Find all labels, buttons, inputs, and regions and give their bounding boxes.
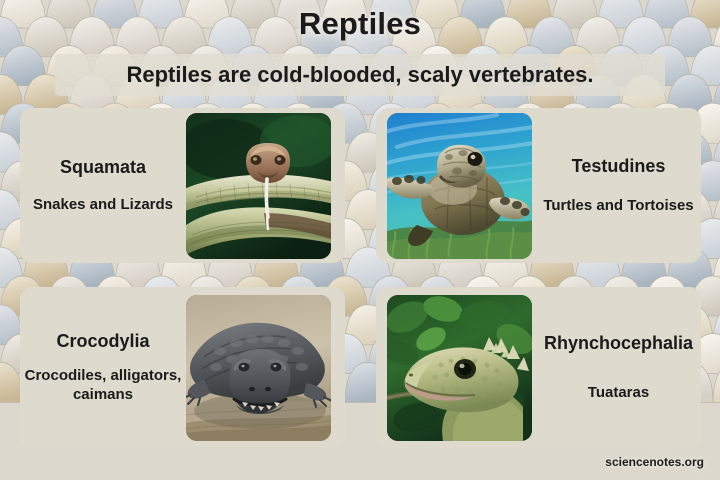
panel-testudines-text: Testudines Turtles and Tortoises (536, 156, 701, 216)
panel-testudines-order-name: Testudines (540, 156, 697, 177)
reptiles-infographic: Reptiles Reptiles are cold-blooded, scal… (0, 0, 720, 480)
panel-squamata-examples: Snakes and Lizards (24, 195, 182, 214)
panel-testudines[interactable]: Testudines Turtles and Tortoises (376, 108, 701, 263)
panel-squamata-order-name: Squamata (24, 157, 182, 178)
sea-turtle-photo (387, 113, 532, 259)
page-title: Reptiles (0, 6, 720, 42)
panel-crocodylia[interactable]: Crocodylia Crocodiles, alligators, caima… (20, 287, 345, 448)
site-attribution: sciencenotes.org (605, 455, 704, 469)
panel-rhynchocephalia[interactable]: Rhynchocephalia Tuataras (376, 287, 701, 448)
panel-squamata[interactable]: Squamata Snakes and Lizards (20, 108, 345, 263)
snake-photo (186, 113, 331, 259)
panel-rhynchocephalia-order-name: Rhynchocephalia (540, 333, 697, 354)
panel-crocodylia-examples: Crocodiles, alligators, caimans (24, 366, 182, 404)
panel-rhynchocephalia-examples: Tuataras (540, 383, 697, 402)
tuatara-photo (387, 295, 532, 441)
alligator-photo (186, 295, 331, 441)
panel-squamata-text: Squamata Snakes and Lizards (20, 157, 186, 215)
page-subtitle: Reptiles are cold-blooded, scaly vertebr… (55, 54, 665, 96)
panel-crocodylia-order-name: Crocodylia (24, 331, 182, 352)
panel-rhynchocephalia-text: Rhynchocephalia Tuataras (536, 333, 701, 403)
panel-testudines-examples: Turtles and Tortoises (540, 196, 697, 215)
panel-crocodylia-text: Crocodylia Crocodiles, alligators, caima… (20, 331, 186, 404)
